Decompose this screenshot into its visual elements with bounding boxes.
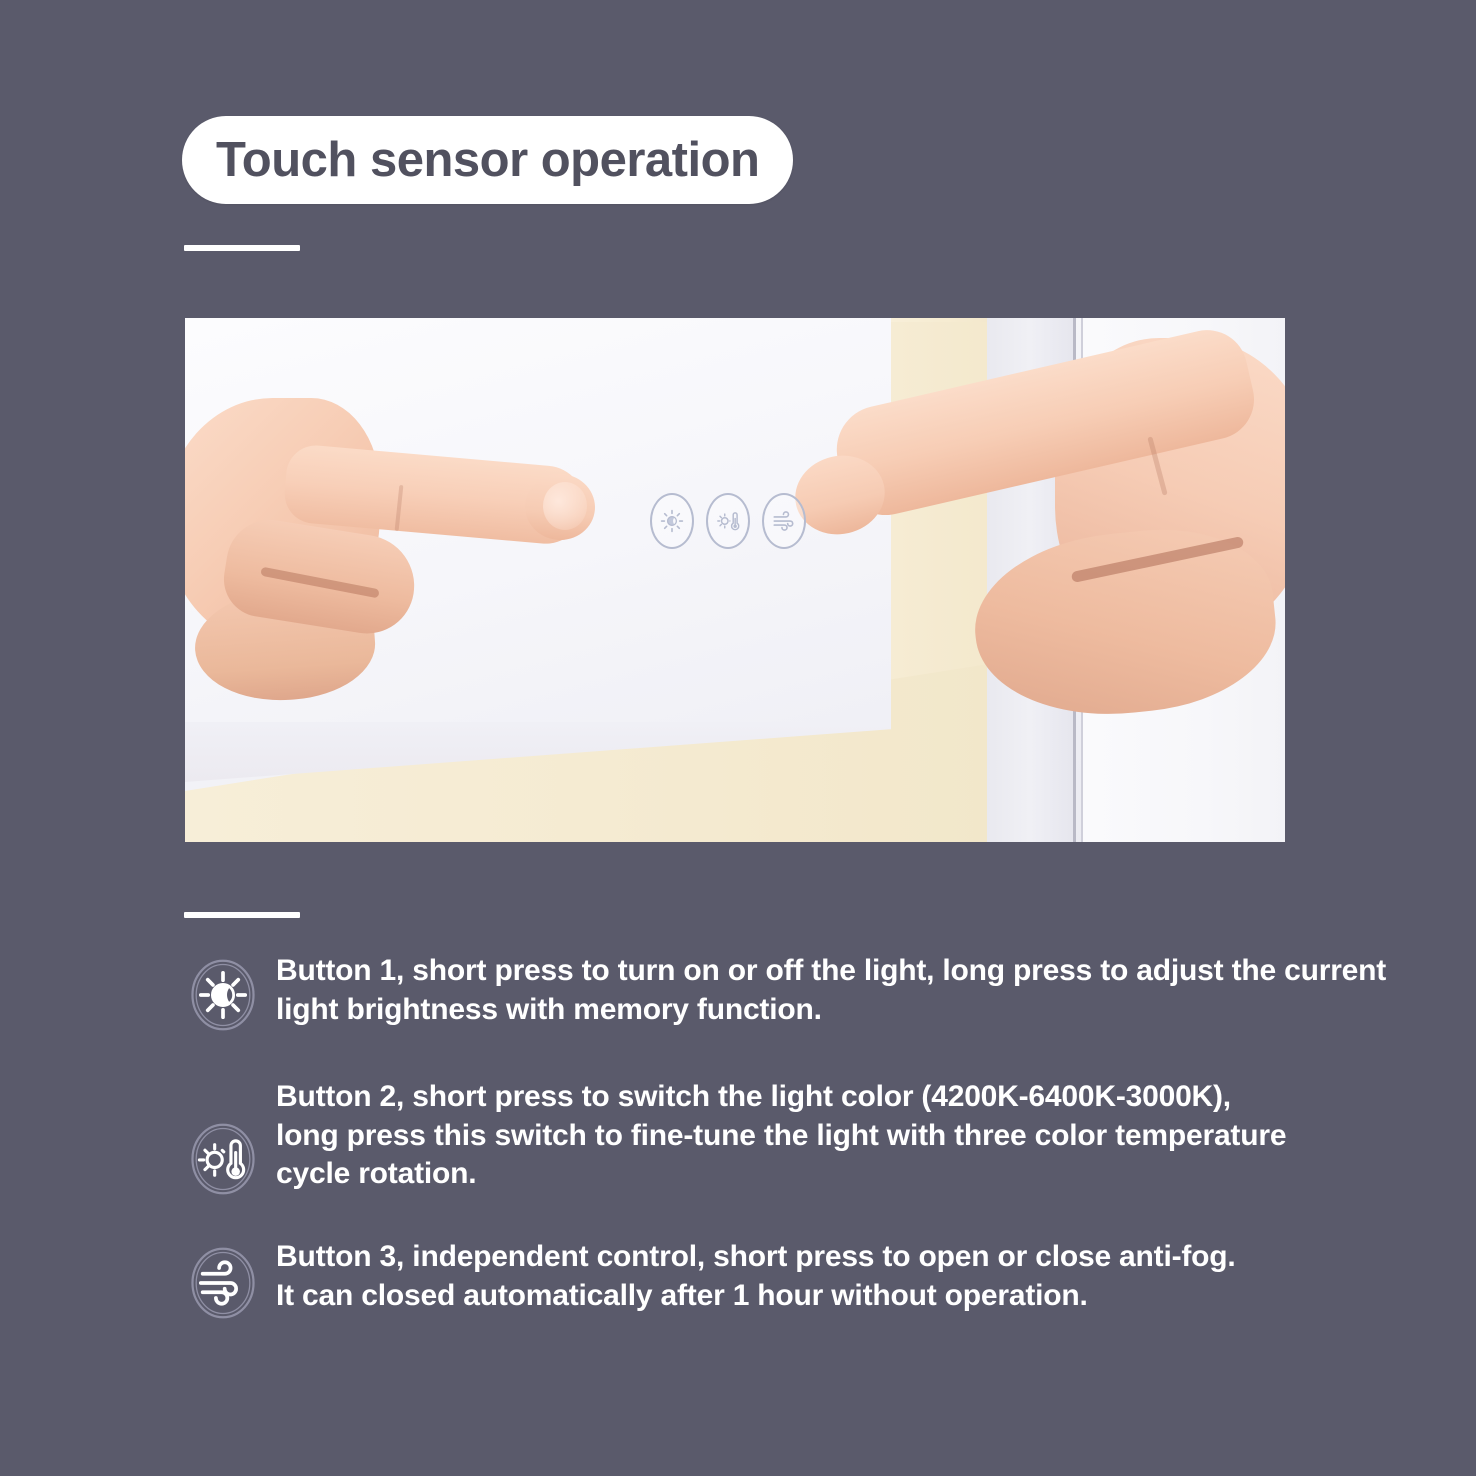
divider-top — [184, 245, 300, 251]
instruction-line: Button 2, short press to switch the ligh… — [276, 1078, 1286, 1117]
right-hand-pointing — [795, 318, 1285, 728]
wind-icon — [771, 508, 797, 534]
sensor-anti-fog-button[interactable] — [762, 493, 806, 549]
left-hand-pointing — [185, 378, 595, 708]
sun-thermometer-icon — [715, 508, 741, 534]
instruction-line: cycle rotation. — [276, 1155, 1286, 1194]
right-hand-curled-fingers — [966, 518, 1283, 728]
sensor-color-temperature-button[interactable] — [706, 493, 750, 549]
instruction-line: Button 1, short press to turn on or off … — [276, 952, 1386, 991]
left-hand-nail — [543, 482, 587, 530]
wind-icon — [184, 1244, 262, 1322]
page-title: Touch sensor operation — [216, 136, 759, 185]
instruction-list: Button 1, short press to turn on or off … — [184, 952, 1384, 1360]
instruction-line: Button 3, independent control, short pre… — [276, 1238, 1236, 1277]
divider-bottom — [184, 912, 300, 918]
instruction-text-button-1: Button 1, short press to turn on or off … — [276, 952, 1386, 1029]
page-title-pill: Touch sensor operation — [182, 116, 793, 204]
product-photo — [185, 318, 1285, 842]
instruction-row-button-2: Button 2, short press to switch the ligh… — [184, 1078, 1384, 1198]
instruction-line: long press this switch to fine-tune the … — [276, 1117, 1286, 1156]
instruction-line: It can closed automatically after 1 hour… — [276, 1277, 1236, 1316]
touch-sensor-row — [650, 493, 806, 549]
page-root: Touch sensor operation — [0, 0, 1476, 1476]
instruction-row-button-3: Button 3, independent control, short pre… — [184, 1238, 1384, 1322]
instruction-text-button-3: Button 3, independent control, short pre… — [276, 1238, 1236, 1315]
instruction-line: light brightness with memory function. — [276, 991, 1386, 1030]
sun-moon-icon — [184, 956, 262, 1034]
sun-thermometer-icon — [184, 1120, 262, 1198]
instruction-row-button-1: Button 1, short press to turn on or off … — [184, 952, 1384, 1034]
instruction-text-button-2: Button 2, short press to switch the ligh… — [276, 1078, 1286, 1194]
sun-moon-icon — [659, 508, 685, 534]
sensor-brightness-button[interactable] — [650, 493, 694, 549]
